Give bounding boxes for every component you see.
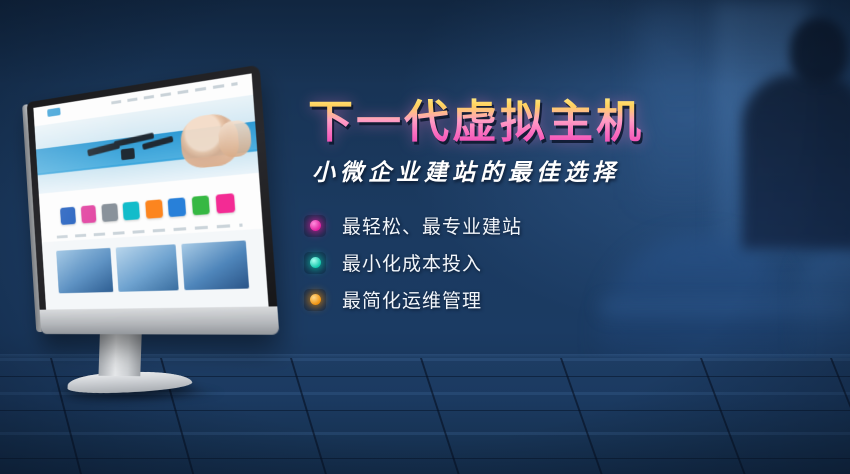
website-logo (47, 108, 60, 117)
website-topbar (33, 73, 253, 126)
website-app-icon (101, 204, 118, 222)
website-app-icon (145, 200, 163, 219)
website-nav-links (112, 82, 238, 104)
website-app-icon (123, 202, 140, 221)
feature-label: 最轻松、最专业建站 (342, 212, 522, 239)
bullet-dot-icon (304, 252, 326, 274)
feature-label: 最简化运维管理 (342, 286, 482, 313)
website-app-icon (60, 207, 76, 225)
website-app-icon (191, 196, 210, 216)
bullet-dot-icon (304, 215, 326, 237)
website-thumbnail-row (42, 229, 269, 310)
imac-desktop-monitor (5, 78, 295, 408)
website-app-icon (81, 205, 97, 223)
feature-item: 最简化运维管理 (304, 281, 720, 318)
subheadline: 小微企业建站的最佳选择 (312, 153, 720, 187)
website-hero-graphic (86, 119, 189, 174)
imac-display-body (27, 65, 280, 335)
website-app-icon (216, 194, 235, 214)
website-hero-photo-person (179, 111, 240, 170)
bullet-dot-icon (304, 289, 326, 311)
website-thumbnail (181, 240, 249, 289)
imac-bezel (27, 65, 280, 335)
feature-label: 最小化成本投入 (342, 249, 482, 276)
feature-item: 最小化成本投入 (304, 244, 720, 281)
website-hero-photo-person-2 (218, 118, 253, 158)
website-app-icon (168, 198, 186, 217)
website-hero-band (36, 121, 257, 174)
website-icon-labels (57, 224, 243, 239)
feature-item: 最轻松、最专业建站 (304, 207, 720, 244)
marketing-copy: 下一代虚拟主机 小微企业建站的最佳选择 最轻松、最专业建站 最小化成本投入 最简… (300, 98, 720, 318)
hero-banner: 下一代虚拟主机 小微企业建站的最佳选择 最轻松、最专业建站 最小化成本投入 最简… (0, 0, 850, 474)
feature-list: 最轻松、最专业建站 最小化成本投入 最简化运维管理 (300, 207, 720, 318)
website-thumbnail (56, 248, 113, 293)
headline: 下一代虚拟主机 (308, 98, 720, 145)
imac-chin (40, 306, 280, 334)
imac-screen (33, 73, 268, 309)
website-thumbnail (116, 244, 179, 291)
